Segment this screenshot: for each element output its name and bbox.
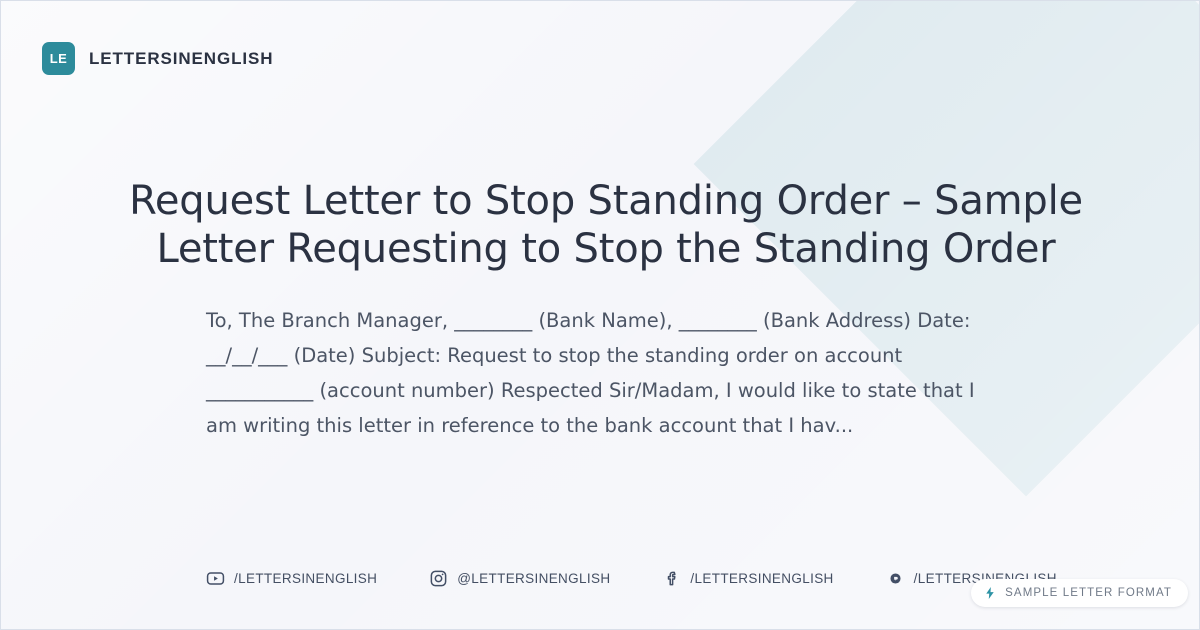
page-title: Request Letter to Stop Standing Order – … (101, 177, 1111, 273)
social-handle: /LETTERSINENGLISH (690, 571, 833, 586)
brand-logo[interactable]: LE LETTERSINENGLISH (42, 42, 273, 75)
social-link-facebook[interactable]: /LETTERSINENGLISH (662, 569, 833, 588)
social-handle: /LETTERSINENGLISH (234, 571, 377, 586)
sample-letter-format-badge[interactable]: SAMPLE LETTER FORMAT (971, 579, 1188, 607)
badge-label: SAMPLE LETTER FORMAT (1005, 587, 1172, 599)
share-card: LE LETTERSINENGLISH Request Letter to St… (0, 0, 1200, 630)
brand-monogram-icon: LE (42, 42, 75, 75)
twitter-icon (886, 569, 905, 588)
main-content: Request Letter to Stop Standing Order – … (101, 177, 1111, 443)
social-handle: @LETTERSINENGLISH (457, 571, 610, 586)
instagram-icon (429, 569, 448, 588)
social-link-youtube[interactable]: /LETTERSINENGLISH (206, 569, 377, 588)
social-link-instagram[interactable]: @LETTERSINENGLISH (429, 569, 610, 588)
article-excerpt: To, The Branch Manager, ________ (Bank N… (206, 303, 1006, 443)
facebook-icon (662, 569, 681, 588)
lightning-bolt-icon (983, 586, 997, 600)
youtube-icon (206, 569, 225, 588)
brand-name: LETTERSINENGLISH (89, 49, 273, 69)
